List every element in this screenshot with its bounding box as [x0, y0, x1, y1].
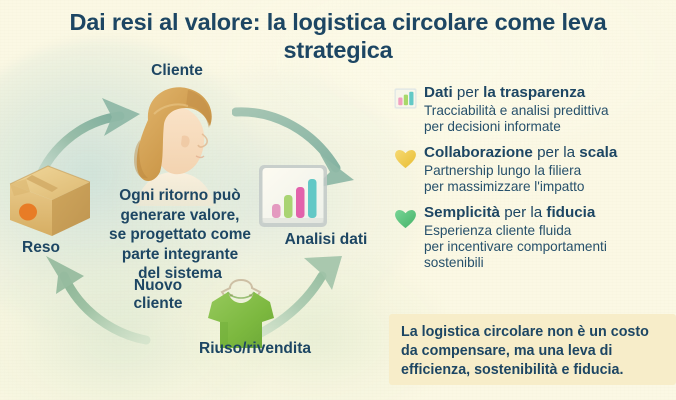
callout-text: La logistica circolare non è un costo da… [401, 323, 664, 380]
pillar-heading-regular: per [453, 84, 483, 101]
pillar-item-collaborazione: Collaborazione per la scala Partnership … [392, 144, 676, 195]
diagram-label-analisi-dati: Analisi dati [260, 231, 392, 249]
page-title: Dai resi al valore: la logistica circola… [0, 8, 676, 64]
pillar-heading-regular: per la [500, 204, 546, 221]
diagram-label-cliente: Cliente [112, 62, 242, 80]
pillars-list: Dati per la trasparenza Tracciabilità e … [392, 84, 676, 280]
pillar-heading: Collaborazione per la scala [424, 144, 676, 162]
callout-box: La logistica circolare non è un costo da… [389, 314, 676, 385]
pillar-heading-bold-2: la trasparenza [483, 84, 585, 101]
diagram-center-text: Ogni ritorno può generare valore, se pro… [82, 186, 278, 284]
pillar-heading-bold-2: fiducia [546, 204, 595, 221]
heart-green-icon [392, 205, 418, 231]
bar-chart-icon [392, 85, 418, 111]
pillar-heading: Semplicità per la fiducia [424, 204, 676, 222]
pillar-heading-bold-1: Dati [424, 84, 453, 101]
pillar-body: Collaborazione per la scala Partnership … [424, 144, 676, 195]
pillar-heading-bold-1: Semplicità [424, 204, 500, 221]
infographic-page: Dai resi al valore: la logistica circola… [0, 0, 676, 400]
pillar-heading-bold-2: scala [579, 144, 617, 161]
pillar-subtext: Partnership lungo la filiera per massimi… [424, 163, 676, 195]
heart-yellow-icon [392, 145, 418, 171]
diagram-label-reso: Reso [0, 239, 82, 257]
title-line-1: Dai resi al valore: la logistica circola… [70, 9, 607, 35]
pillar-subtext: Tracciabilità e analisi predittiva per d… [424, 103, 676, 135]
pillar-item-dati: Dati per la trasparenza Tracciabilità e … [392, 84, 676, 135]
cardboard-box-illustration [2, 162, 94, 240]
pillar-body: Semplicità per la fiducia Esperienza cli… [424, 204, 676, 271]
pillar-heading: Dati per la trasparenza [424, 84, 676, 102]
circular-logistics-diagram: Cliente Reso Nuovo cliente Riuso/rivendi… [0, 58, 392, 400]
diagram-label-riuso-rivendita: Riuso/rivendita [170, 340, 340, 358]
pillar-item-semplicita: Semplicità per la fiducia Esperienza cli… [392, 204, 676, 271]
pillar-heading-regular: per la [533, 144, 579, 161]
pillar-heading-bold-1: Collaborazione [424, 144, 533, 161]
pillar-body: Dati per la trasparenza Tracciabilità e … [424, 84, 676, 135]
pillar-subtext: Esperienza cliente fluida per incentivar… [424, 223, 676, 271]
